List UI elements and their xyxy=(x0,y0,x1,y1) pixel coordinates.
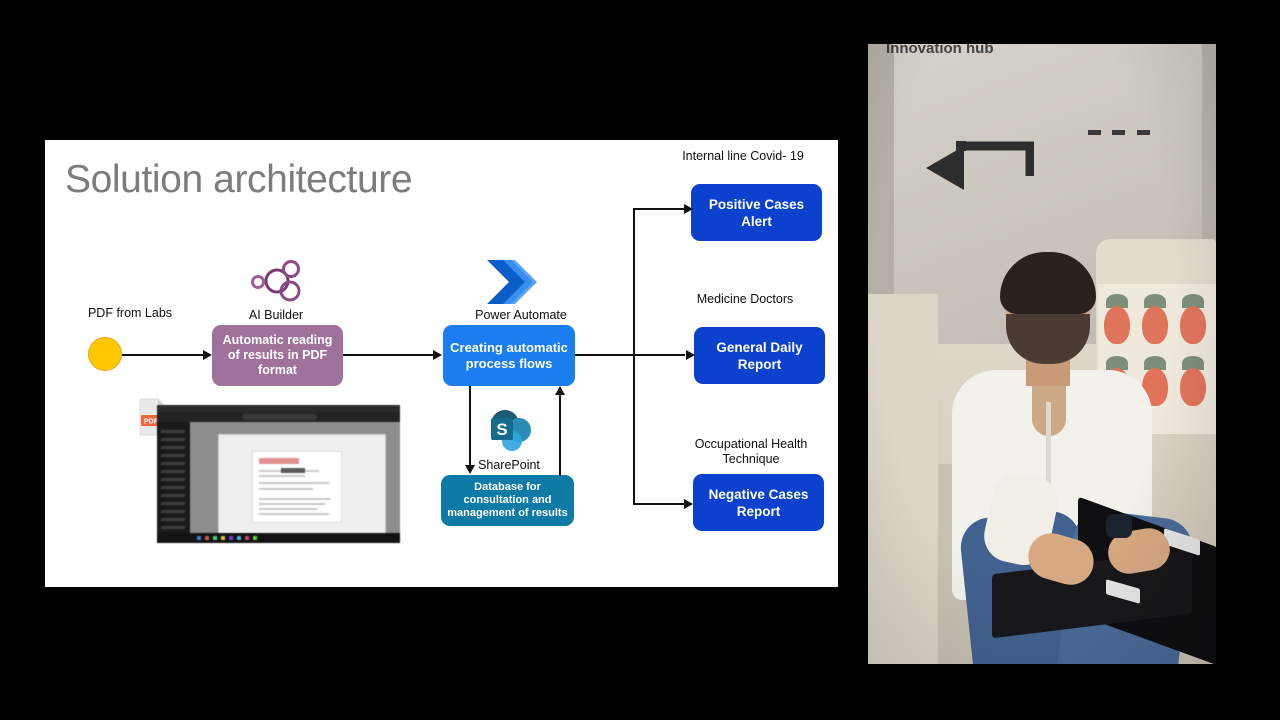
smartwatch xyxy=(1106,514,1132,538)
presentation-slide: Solution architecture PDF PDF from Labs … xyxy=(45,140,838,587)
svg-text:S: S xyxy=(496,420,507,439)
arrowhead-output-3 xyxy=(684,499,693,509)
arrowhead-aibuilder-to-powerautomate xyxy=(433,350,442,360)
ai-builder-process-box[interactable]: Automatic reading of results in PDF form… xyxy=(212,325,343,386)
connector-powerautomate-to-trunk xyxy=(575,354,685,356)
arrowhead-output-2 xyxy=(686,350,695,360)
page-title: Solution architecture xyxy=(65,158,412,202)
output-box-negative-cases-report[interactable]: Negative Cases Report xyxy=(693,474,824,531)
output-caption-1: Internal line Covid- 19 xyxy=(673,149,813,164)
screen-root: Solution architecture PDF PDF from Labs … xyxy=(0,0,1280,720)
output-caption-2: Medicine Doctors xyxy=(675,292,815,307)
connector-start-to-aibuilder xyxy=(122,354,204,356)
arrowhead-start-to-aibuilder xyxy=(203,350,212,360)
arrowhead-powerautomate-to-sharepoint xyxy=(465,465,475,474)
connector-trunk-vertical xyxy=(633,208,635,505)
connector-aibuilder-to-powerautomate xyxy=(343,354,434,356)
connector-powerautomate-to-sharepoint xyxy=(469,386,471,466)
output-box-positive-cases-alert[interactable]: Positive Cases Alert xyxy=(691,184,822,241)
sharepoint-icon: S xyxy=(485,408,537,456)
presenter-hair xyxy=(1000,252,1096,314)
output-caption-3: Occupational Health Technique xyxy=(673,437,829,467)
left-arrow-sign-icon xyxy=(918,140,1034,198)
sharepoint-database-box[interactable]: Database for consultation and management… xyxy=(441,475,574,526)
power-automate-caption: Power Automate xyxy=(465,308,577,323)
presenter-video-feed[interactable]: Innovation hub xyxy=(868,44,1216,664)
wall-dash-marks xyxy=(1088,130,1152,135)
connector-trunk-to-output-1 xyxy=(633,208,685,210)
ai-builder-caption: AI Builder xyxy=(230,308,322,323)
sharepoint-caption: SharePoint xyxy=(463,458,555,473)
wall-sign-text: Innovation hub xyxy=(886,44,1206,54)
output-box-general-daily-report[interactable]: General Daily Report xyxy=(694,327,825,384)
start-dot xyxy=(88,337,122,371)
arrowhead-output-1 xyxy=(684,204,693,214)
power-automate-icon xyxy=(481,258,541,306)
arrowhead-sharepoint-to-powerautomate xyxy=(555,386,565,395)
pdf-source-caption: PDF from Labs xyxy=(65,306,195,321)
presenter-beard xyxy=(1006,314,1090,364)
ai-builder-icon xyxy=(249,260,301,304)
power-automate-process-box[interactable]: Creating automatic process flows xyxy=(443,325,575,386)
connector-sharepoint-to-powerautomate xyxy=(559,394,561,476)
connector-trunk-to-output-3 xyxy=(633,503,685,505)
browser-screenshot-thumbnail[interactable] xyxy=(157,405,400,543)
couch-arm xyxy=(868,294,938,664)
